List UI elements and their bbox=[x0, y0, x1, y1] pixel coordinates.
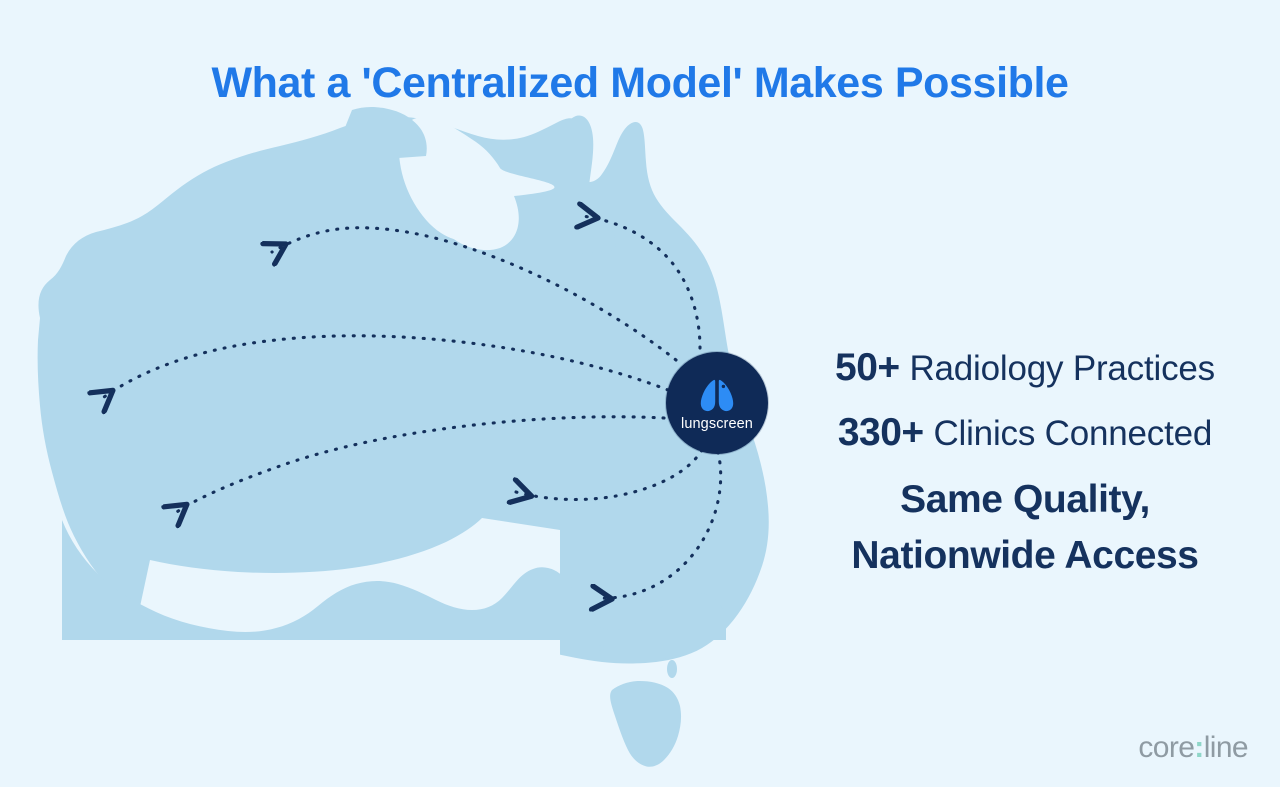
hub-label: lungscreen bbox=[681, 416, 753, 432]
stats-block: 50+ Radiology Practices 330+ Clinics Con… bbox=[790, 336, 1260, 466]
brand-part-core: core bbox=[1138, 731, 1194, 764]
brand-separator-colon: : bbox=[1194, 731, 1203, 764]
page-title: What a 'Centralized Model' Makes Possibl… bbox=[0, 57, 1280, 109]
infographic-slide: What a 'Centralized Model' Makes Possibl… bbox=[0, 0, 1280, 787]
stat-row-clinics-connected: 330+ Clinics Connected bbox=[790, 401, 1260, 466]
stat-number-clinics-connected: 330+ bbox=[838, 411, 924, 454]
map-landmass bbox=[0, 107, 769, 787]
brand-part-line: line bbox=[1204, 731, 1248, 764]
coreline-logo: core:line bbox=[1138, 731, 1248, 765]
stat-label-radiology-practices: Radiology Practices bbox=[909, 349, 1215, 388]
tagline-line-2: Nationwide Access bbox=[790, 528, 1260, 584]
lungs-icon bbox=[696, 379, 738, 413]
tagline-line-1: Same Quality, bbox=[790, 472, 1260, 528]
stat-number-radiology-practices: 50+ bbox=[835, 346, 900, 389]
stat-label-clinics-connected: Clinics Connected bbox=[933, 414, 1212, 453]
lungscreen-hub-badge[interactable]: lungscreen bbox=[666, 352, 768, 454]
stat-row-radiology-practices: 50+ Radiology Practices bbox=[790, 336, 1260, 401]
tagline: Same Quality, Nationwide Access bbox=[790, 472, 1260, 584]
